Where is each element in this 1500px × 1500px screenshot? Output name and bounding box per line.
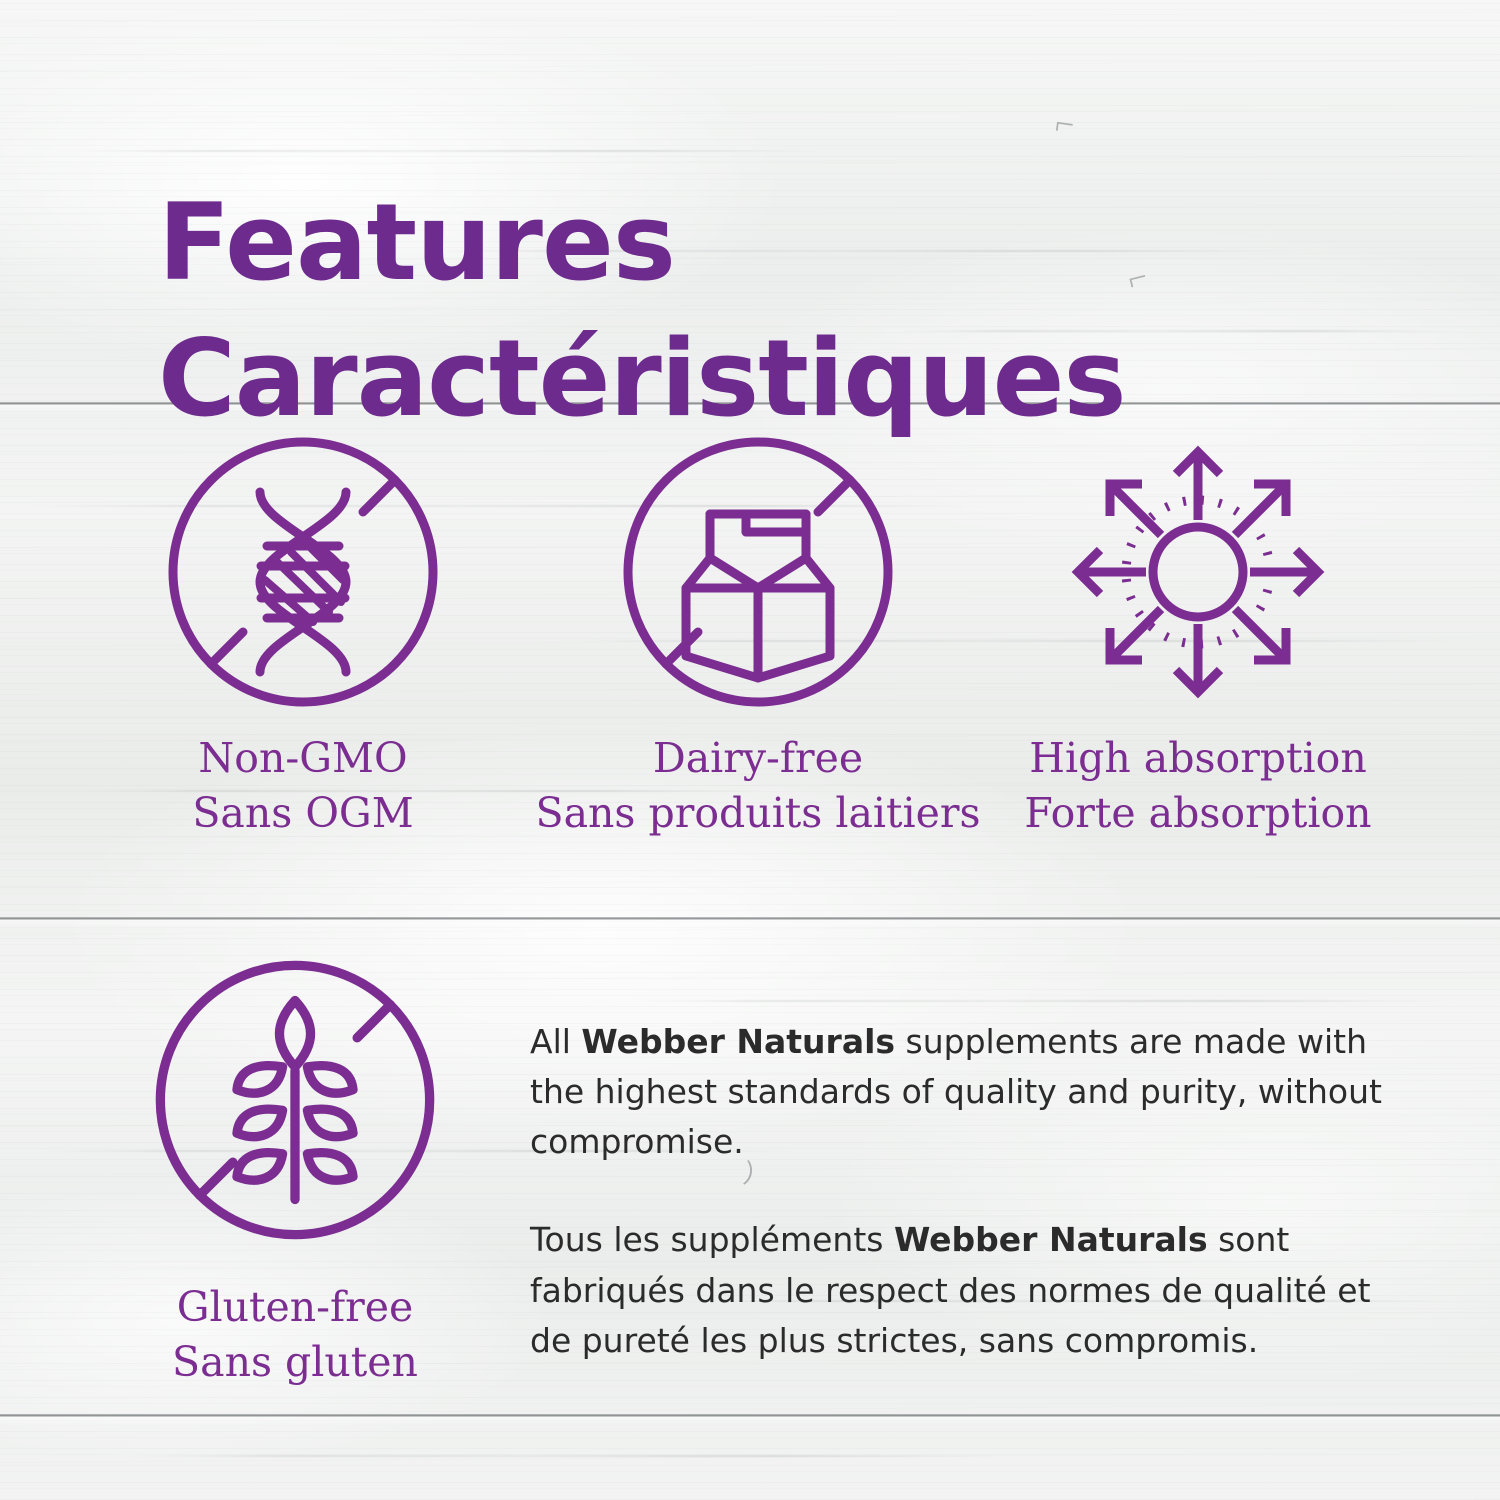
- feature-label-fr: Forte absorption: [1024, 786, 1371, 841]
- feature-gluten-free: Gluten-free Sans gluten: [60, 955, 530, 1389]
- brand-copy-fr: Tous les suppléments Webber Naturals son…: [530, 1215, 1390, 1365]
- feature-label-en: Non-GMO: [192, 731, 413, 786]
- page-title-en: Features: [158, 175, 1338, 311]
- feature-label-fr: Sans produits laitiers: [536, 786, 981, 841]
- page-title: Features Caractéristiques: [158, 175, 1338, 446]
- feature-dairy-free: Dairy-free Sans produits laitiers: [538, 432, 978, 840]
- high-absorption-radiating-arrows-icon: [1058, 432, 1338, 717]
- feature-label-non-gmo: Non-GMO Sans OGM: [192, 731, 413, 840]
- feature-row-bottom: Gluten-free Sans gluten All Webber Natur…: [0, 955, 1500, 1389]
- brand-copy-en: All Webber Naturals supplements are made…: [530, 1017, 1390, 1167]
- feature-label-gluten-free: Gluten-free Sans gluten: [172, 1280, 418, 1389]
- feature-high-absorption: High absorption Forte absorption: [978, 432, 1418, 840]
- feature-label-en: Gluten-free: [172, 1280, 418, 1335]
- feature-non-gmo: Non-GMO Sans OGM: [68, 432, 538, 840]
- feature-label-en: Dairy-free: [536, 731, 981, 786]
- feature-label-en: High absorption: [1024, 731, 1371, 786]
- copy-en-before: All: [530, 1022, 581, 1061]
- feature-label-high-absorption: High absorption Forte absorption: [1024, 731, 1371, 840]
- feature-panel: ⌐ ⌐ ⌒ Features Caractéristiques: [0, 0, 1500, 1500]
- brand-name-fr: Webber Naturals: [894, 1220, 1208, 1259]
- copy-fr-before: Tous les suppléments: [530, 1220, 894, 1259]
- no-gluten-wheat-icon: [150, 955, 440, 1250]
- feature-row-top: Non-GMO Sans OGM: [0, 432, 1500, 840]
- page-title-fr: Caractéristiques: [158, 311, 1338, 447]
- feature-label-dairy-free: Dairy-free Sans produits laitiers: [536, 731, 981, 840]
- no-dairy-milk-carton-icon: [618, 432, 898, 717]
- feature-label-fr: Sans OGM: [192, 786, 413, 841]
- no-gmo-dna-icon: [163, 432, 443, 717]
- brand-name-en: Webber Naturals: [581, 1022, 895, 1061]
- feature-label-fr: Sans gluten: [172, 1335, 418, 1390]
- brand-copy: All Webber Naturals supplements are made…: [530, 955, 1500, 1366]
